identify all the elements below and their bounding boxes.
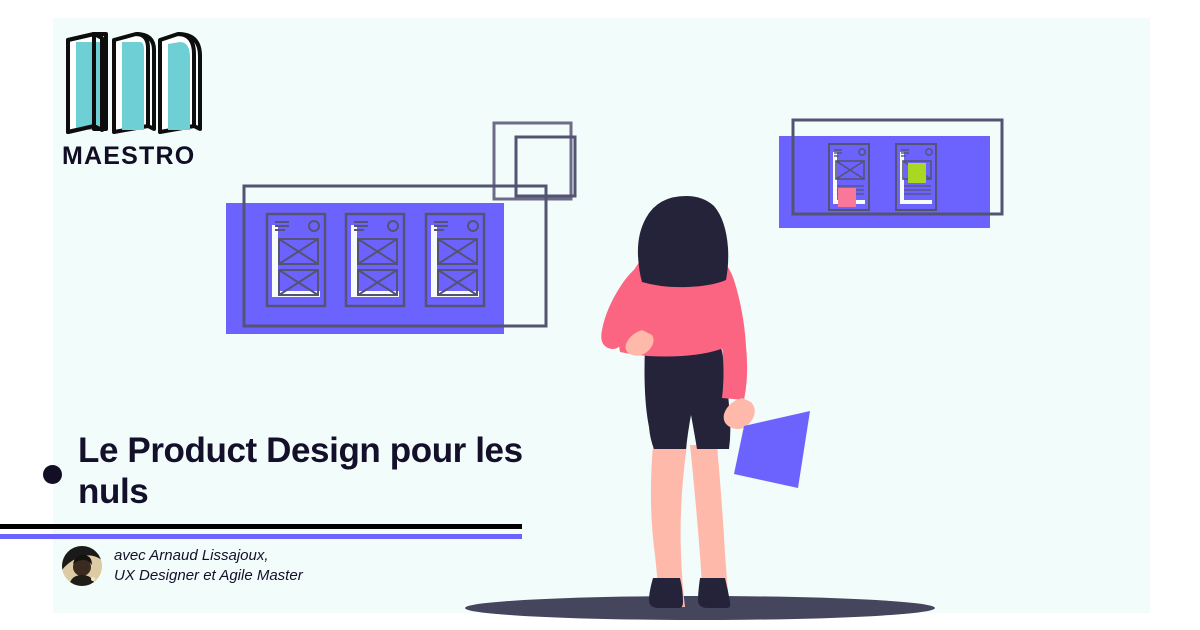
lime-sticky-note	[908, 163, 926, 183]
logo-wordmark: MAESTRO	[62, 142, 195, 171]
figure-left-shoe	[649, 578, 683, 608]
pink-sticky-note	[838, 188, 856, 207]
avatar	[62, 546, 102, 586]
figure-shorts	[645, 347, 731, 449]
three-pillars-icon	[62, 28, 202, 140]
bullet-dot	[43, 465, 62, 484]
divider-purple	[0, 534, 522, 539]
divider-black	[0, 524, 522, 529]
standing-woman-figure	[601, 196, 755, 608]
poster-canvas: MAESTRO Le Product Design pour les nuls …	[0, 0, 1200, 630]
maestro-logo[interactable]: MAESTRO	[62, 28, 202, 173]
right-wireframe-board	[779, 120, 1002, 228]
byline-text: avec Arnaud Lissajoux, UX Designer et Ag…	[114, 546, 303, 587]
figure-hair	[638, 196, 728, 287]
outline-square-a	[494, 123, 571, 199]
figure-right-shoe	[698, 578, 730, 608]
byline: avec Arnaud Lissajoux, UX Designer et Ag…	[62, 546, 303, 587]
page-title: Le Product Design pour les nuls	[78, 431, 538, 513]
left-wireframe-board	[226, 186, 546, 334]
